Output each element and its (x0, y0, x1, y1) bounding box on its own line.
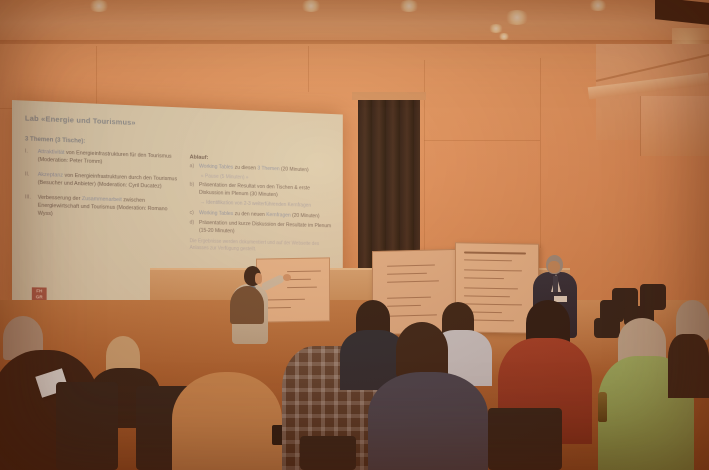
agenda-tail: (20 Minuten) (291, 213, 320, 220)
empty-chair (300, 436, 356, 470)
topic-item: II. Akzeptanz von Energieinfrastrukturen… (25, 171, 182, 192)
slide-columns: I. Attraktivität von Energieinfrastruktu… (21, 148, 335, 254)
topic-text: Akzeptanz von Energieinfrastrukturen dur… (38, 172, 182, 192)
audience-member (230, 286, 264, 324)
downlight-icon (300, 0, 322, 12)
curtain-valance (352, 92, 426, 100)
topic-highlight: Zusammenarbeit (82, 196, 122, 203)
presenter-face (255, 273, 262, 284)
topic-text: Attraktivität von Energieinfrastrukturen… (38, 149, 182, 170)
agenda-item: b) Präsentation der Resultat von den Tis… (190, 182, 335, 202)
stage-curtain (358, 96, 420, 276)
downlight-icon (498, 33, 510, 40)
agenda-footnote: Die Ergebnisse werden dokumentiert und a… (190, 238, 335, 255)
agenda-subnote: → Identifikation von 2-3 weiterführenden… (200, 200, 335, 211)
conference-room-photo: Lab «Energie und Tourismus» 3 Themen (3 … (0, 0, 709, 470)
downlight-icon (588, 0, 608, 11)
topic-prefix: Verbesserung der (38, 195, 82, 202)
wall-seam (308, 46, 309, 92)
topic-highlight: Akzeptanz (38, 172, 63, 179)
agenda-number: b) (190, 182, 197, 197)
topic-highlight: Attraktivität (38, 149, 65, 156)
agenda-number: a) (190, 163, 197, 171)
audience-member (368, 372, 488, 470)
presenter-face (548, 261, 560, 273)
downlight-icon (488, 24, 504, 33)
downlight-icon (504, 10, 530, 25)
agenda-number: d) (190, 220, 197, 235)
agenda-accent: 3 Themen (257, 166, 279, 173)
agenda-text: Working Tables zu den neuen Kernfragen (… (199, 210, 320, 221)
topic-item: III. Verbesserung der Zusammenarbeit zwi… (25, 194, 182, 222)
wall-seam (540, 58, 541, 248)
empty-chair (56, 382, 118, 470)
empty-chair (488, 408, 562, 470)
topic-number: II. (25, 171, 34, 187)
empty-chair (594, 318, 620, 338)
agenda-number: c) (190, 210, 197, 218)
agenda-body: zu den neuen (233, 211, 266, 218)
right-wall-panel (640, 96, 709, 156)
topic-number: III. (25, 194, 34, 218)
audience-member (172, 372, 282, 470)
agenda-lead: Working Tables (199, 164, 233, 171)
beer-bottle (598, 392, 607, 422)
audience-member (396, 322, 448, 378)
agenda-body: Präsentation und kurze Diskussion der Re… (199, 220, 335, 239)
topic-number: I. (25, 148, 34, 164)
topic-text: Verbesserung der Zusammenarbeit zwischen… (38, 195, 182, 223)
downlight-icon (398, 0, 420, 12)
agenda-lead: Working Tables (199, 210, 233, 217)
agenda-tail: (20 Minuten) (280, 166, 309, 173)
slide-title: Lab «Energie und Tourismus» (25, 114, 335, 136)
presenter-tie (553, 276, 558, 292)
slide-left-column: I. Attraktivität von Energieinfrastruktu… (21, 148, 182, 251)
agenda-accent: Kernfragen (266, 212, 290, 218)
fhgr-logo-bottom: GR (36, 294, 43, 300)
slide-right-column: Ablauf: a) Working Tables zu diesen 3 Th… (190, 155, 335, 255)
audience-member (668, 334, 709, 398)
presenter-hand (283, 274, 291, 281)
agenda-body: zu diesen (233, 165, 257, 172)
downlight-icon (88, 0, 110, 12)
wall-seam (424, 140, 540, 141)
topic-item: I. Attraktivität von Energieinfrastruktu… (25, 148, 182, 169)
agenda-item: d) Präsentation und kurze Diskussion der… (190, 220, 335, 239)
agenda-body: Präsentation der Resultat von den Tische… (199, 182, 335, 201)
fhgr-logo: FH GR (32, 287, 47, 300)
